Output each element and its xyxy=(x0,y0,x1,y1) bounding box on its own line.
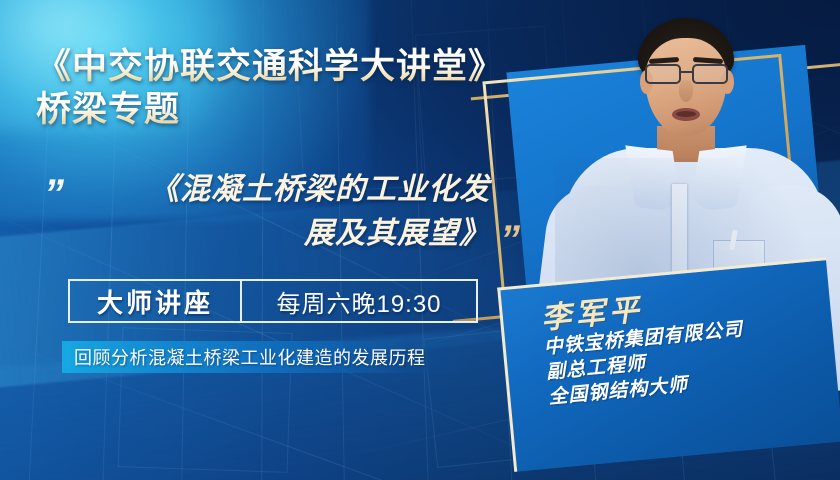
lecture-schedule: 每周六晚19:30 xyxy=(242,284,476,319)
poster-canvas: 李军平 中铁宝桥集团有限公司 副总工程师 全国钢结构大师 《中交协联交通科学大讲… xyxy=(0,0,840,480)
subtitle-block: ” 《混凝土桥梁的工业化发 展及其展望》 ” xyxy=(40,168,540,266)
lecture-label: 大师讲座 xyxy=(70,283,240,320)
subtitle-text: 《混凝土桥梁的工业化发 展及其展望》 xyxy=(90,168,490,257)
headline-line-2: 桥梁专题 xyxy=(36,89,556,132)
nose xyxy=(679,80,693,102)
speaker-info-panel: 李军平 中铁宝桥集团有限公司 副总工程师 全国钢结构大师 xyxy=(497,257,840,472)
headline-line-1: 《中交协联交通科学大讲堂》 xyxy=(36,46,556,89)
page-title: 《中交协联交通科学大讲堂》 桥梁专题 xyxy=(36,46,556,131)
glasses-bridge xyxy=(681,71,692,73)
mouth xyxy=(672,108,700,121)
glasses-lens-left xyxy=(645,64,681,84)
glasses-lens-right xyxy=(692,64,728,84)
quote-close-icon: ” xyxy=(500,220,520,260)
lecture-info-box: 大师讲座 每周六晚19:30 xyxy=(68,279,478,323)
subtitle-line-1: 《混凝土桥梁的工业化发 xyxy=(90,168,490,212)
description-bar: 回顾分析混凝土桥梁工业化建造的发展历程 xyxy=(62,341,474,373)
quote-open-icon: ” xyxy=(44,174,64,214)
subtitle-line-2: 展及其展望》 xyxy=(90,212,490,256)
description-text: 回顾分析混凝土桥梁工业化建造的发展历程 xyxy=(62,344,426,370)
